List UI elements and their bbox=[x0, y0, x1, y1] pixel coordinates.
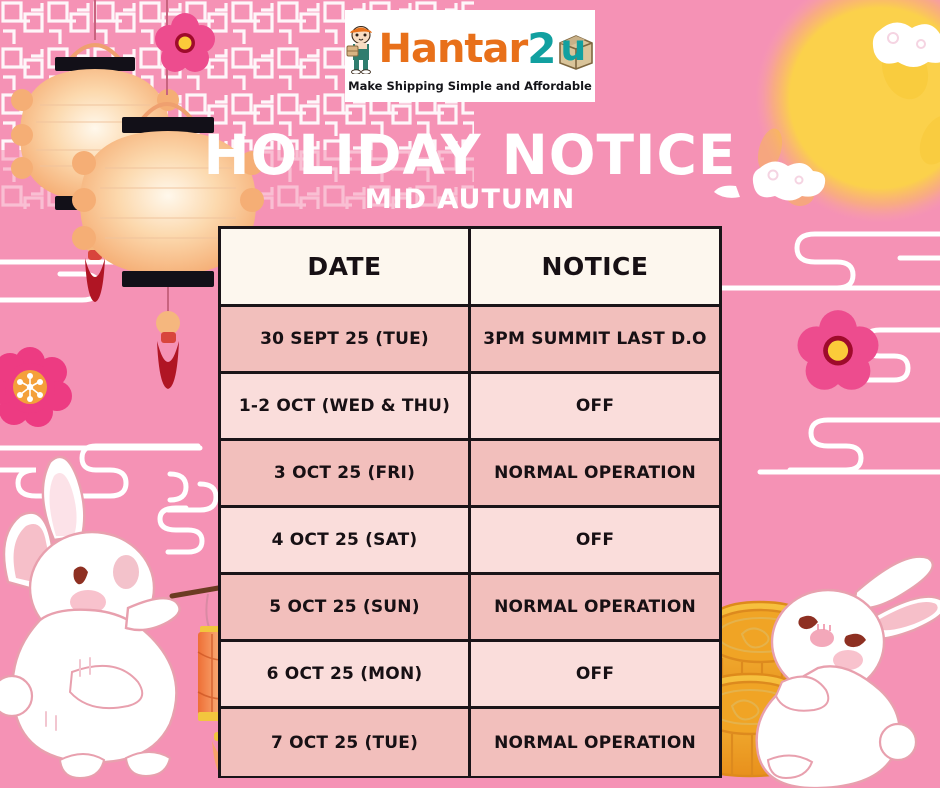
table-row: 1-2 OCT (WED & THU) OFF bbox=[221, 374, 719, 441]
cell-date: 4 OCT 25 (SAT) bbox=[221, 508, 471, 572]
cell-notice: 3PM SUMMIT LAST D.O bbox=[471, 307, 719, 371]
column-header-date: DATE bbox=[221, 229, 471, 304]
table-row: 6 OCT 25 (MON) OFF bbox=[221, 642, 719, 709]
cell-notice: OFF bbox=[471, 642, 719, 706]
courier-mascot-icon bbox=[344, 24, 378, 74]
logo-wordmark: Hantar 2 u bbox=[344, 20, 595, 78]
table-row: 7 OCT 25 (TUE) NORMAL OPERATION bbox=[221, 709, 719, 776]
cell-notice: OFF bbox=[471, 374, 719, 438]
cell-date: 1-2 OCT (WED & THU) bbox=[221, 374, 471, 438]
cell-notice: NORMAL OPERATION bbox=[471, 709, 719, 776]
cell-notice: NORMAL OPERATION bbox=[471, 441, 719, 505]
page-title: HOLIDAY NOTICE bbox=[0, 128, 940, 183]
column-header-notice: NOTICE bbox=[471, 229, 719, 304]
table-row: 5 OCT 25 (SUN) NORMAL OPERATION bbox=[221, 575, 719, 642]
cell-date: 30 SEPT 25 (TUE) bbox=[221, 307, 471, 371]
holiday-notice-table: DATE NOTICE 30 SEPT 25 (TUE) 3PM SUMMIT … bbox=[218, 226, 722, 778]
table-row: 4 OCT 25 (SAT) OFF bbox=[221, 508, 719, 575]
cell-date: 6 OCT 25 (MON) bbox=[221, 642, 471, 706]
cell-notice: NORMAL OPERATION bbox=[471, 575, 719, 639]
logo-text-u: u bbox=[561, 31, 586, 67]
brand-logo: Hantar 2 u Make Shipping Simple and Affo… bbox=[345, 10, 595, 102]
logo-text-two: 2 bbox=[527, 28, 555, 70]
page-subtitle: MID AUTUMN bbox=[0, 186, 940, 213]
table-row: 30 SEPT 25 (TUE) 3PM SUMMIT LAST D.O bbox=[221, 307, 719, 374]
logo-tagline: Make Shipping Simple and Affordable bbox=[348, 79, 592, 93]
cell-date: 7 OCT 25 (TUE) bbox=[221, 709, 471, 776]
cell-date: 5 OCT 25 (SUN) bbox=[221, 575, 471, 639]
logo-text-hantar: Hantar bbox=[378, 29, 527, 69]
cell-date: 3 OCT 25 (FRI) bbox=[221, 441, 471, 505]
table-row: 3 OCT 25 (FRI) NORMAL OPERATION bbox=[221, 441, 719, 508]
table-header-row: DATE NOTICE bbox=[221, 229, 719, 307]
cell-notice: OFF bbox=[471, 508, 719, 572]
